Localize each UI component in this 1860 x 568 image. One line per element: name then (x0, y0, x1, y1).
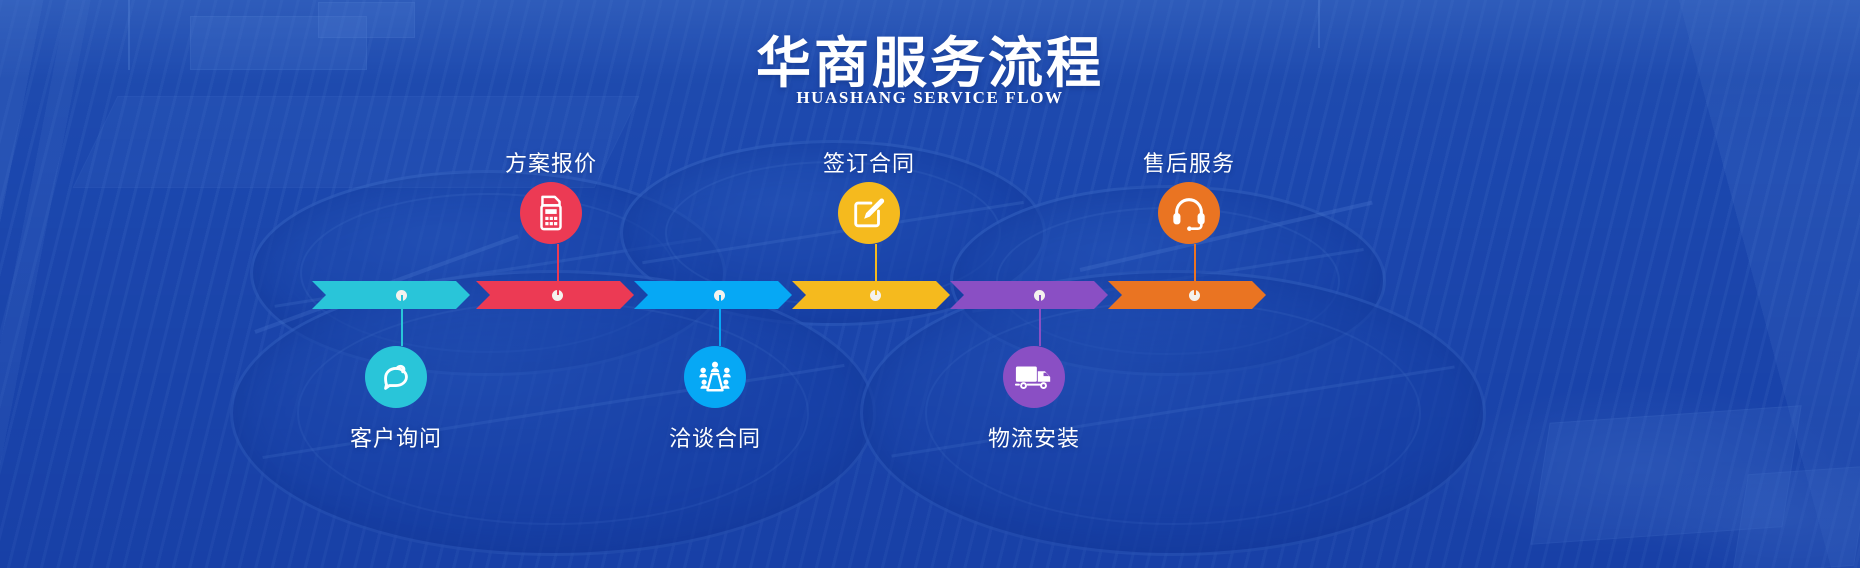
meeting-table-icon (696, 359, 734, 395)
calculator-receipt-icon (534, 194, 568, 232)
flow-connector-line-1 (401, 295, 403, 346)
flow-step-icon-badge-1[interactable] (365, 346, 427, 408)
flow-step-icon-badge-5[interactable] (1003, 346, 1065, 408)
flow-step-icon-badge-2[interactable] (520, 182, 582, 244)
headset-support-icon (1170, 194, 1208, 232)
sign-contract-pen-icon (850, 194, 888, 232)
flow-step-icon-badge-6[interactable] (1158, 182, 1220, 244)
flow-arrow-segment-6[interactable] (1108, 281, 1266, 309)
flow-connector-line-2 (557, 244, 559, 295)
delivery-truck-icon (1014, 361, 1054, 393)
flow-step-label-3: 洽谈合同 (669, 421, 761, 453)
page-title: 华商服务流程 (0, 18, 1860, 98)
flow-arrow-segment-1[interactable] (312, 281, 470, 309)
flow-arrow-segment-5[interactable] (950, 281, 1108, 309)
flow-connector-line-3 (719, 295, 721, 346)
flow-step-label-6: 售后服务 (1143, 146, 1235, 178)
page-subtitle: HUASHANG SERVICE FLOW (0, 88, 1860, 108)
flow-step-label-4: 签订合同 (823, 146, 915, 178)
flow-connector-line-4 (875, 244, 877, 295)
flow-arrow-segment-3[interactable] (634, 281, 792, 309)
flow-step-icon-badge-4[interactable] (838, 182, 900, 244)
flow-connector-line-6 (1194, 244, 1196, 295)
flow-connector-line-5 (1039, 295, 1041, 346)
flow-step-label-1: 客户询问 (350, 421, 442, 453)
flow-arrow-bar (312, 281, 1272, 309)
chat-bubble-icon (377, 358, 415, 396)
flow-step-label-5: 物流安装 (988, 421, 1080, 453)
service-flow-banner: 华商服务流程 HUASHANG SERVICE FLOW 客户询问方案报价洽谈合… (0, 0, 1860, 568)
flow-step-label-2: 方案报价 (505, 146, 597, 178)
flow-step-icon-badge-3[interactable] (684, 346, 746, 408)
